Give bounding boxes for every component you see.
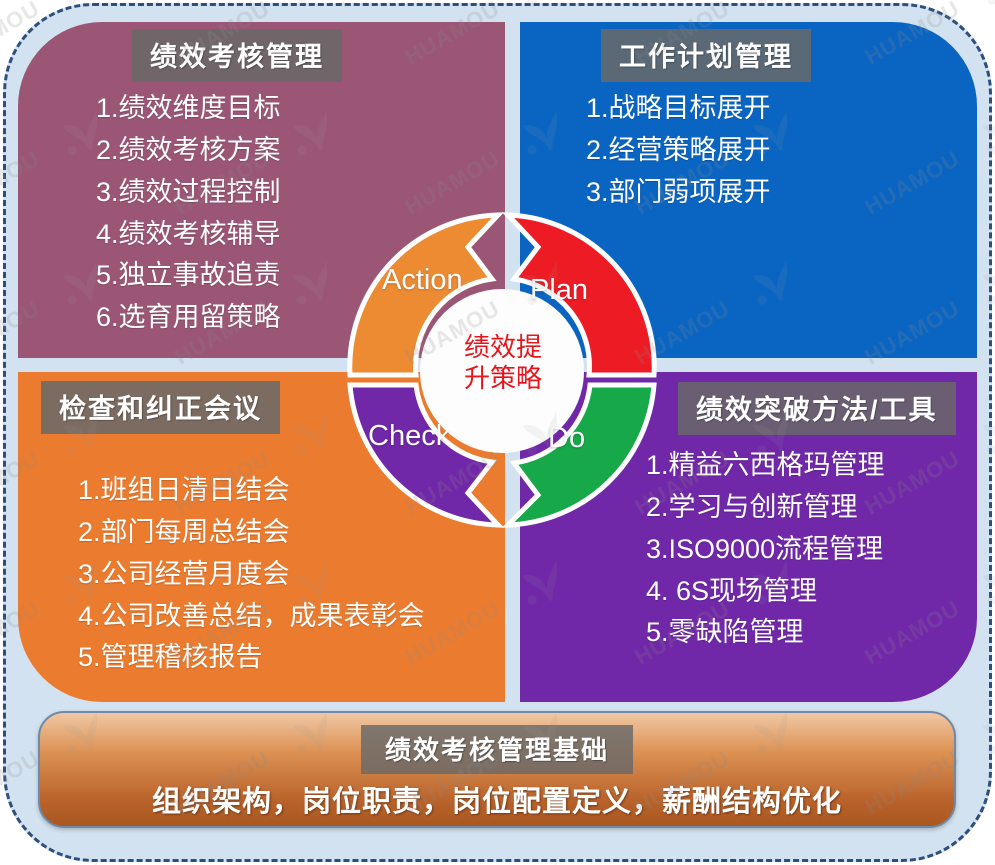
- list-item: 5.管理稽核报告: [78, 637, 425, 679]
- list-item: 3.ISO9000流程管理: [646, 529, 885, 571]
- foundation-banner[interactable]: 绩效考核管理基础 组织架构，岗位职责，岗位配置定义，薪酬结构优化: [38, 711, 956, 828]
- list-item: 4. 6S现场管理: [646, 571, 885, 613]
- quadrant-title-performance-appraisal: 绩效考核管理: [132, 29, 342, 82]
- list-item: 2.经营策略展开: [586, 130, 771, 172]
- list-item: 3.部门弱项展开: [586, 172, 771, 214]
- list-item: 3.绩效过程控制: [96, 172, 281, 214]
- list-item: 2.学习与创新管理: [646, 487, 885, 529]
- list-item: 4.公司改善总结，成果表彰会: [78, 596, 425, 638]
- wheel-center-line-2: 升策略: [438, 363, 568, 394]
- quadrant-title-check-correct-meeting: 检查和纠正会议: [41, 381, 280, 434]
- list-item: 1.战略目标展开: [586, 88, 771, 130]
- list-item: 4.绩效考核辅导: [96, 214, 281, 256]
- list-item: 1.绩效维度目标: [96, 88, 281, 130]
- list-work-plan: 1.战略目标展开2.经营策略展开3.部门弱项展开: [586, 88, 771, 214]
- foundation-banner-title: 绩效考核管理基础: [361, 725, 633, 774]
- list-performance-appraisal: 1.绩效维度目标2.绩效考核方案3.绩效过程控制4.绩效考核辅导5.独立事故追责…: [96, 88, 281, 339]
- list-item: 5.独立事故追责: [96, 255, 281, 297]
- watermark-leaf-icon: [974, 854, 995, 865]
- quadrant-title-breakthrough-methods: 绩效突破方法/工具: [678, 382, 956, 435]
- diagram-canvas: 绩效考核管理 工作计划管理 检查和纠正会议 绩效突破方法/工具 1.绩效维度目标…: [0, 0, 995, 865]
- list-item: 1.精益六西格玛管理: [646, 445, 885, 487]
- list-item: 6.选育用留策略: [96, 297, 281, 339]
- list-item: 3.公司经营月度会: [78, 554, 425, 596]
- list-item: 5.零缺陷管理: [646, 612, 885, 654]
- foundation-banner-subtitle: 组织架构，岗位职责，岗位配置定义，薪酬结构优化: [40, 778, 954, 820]
- list-item: 2.绩效考核方案: [96, 130, 281, 172]
- wheel-center-line-1: 绩效提: [438, 332, 568, 363]
- list-breakthrough-methods: 1.精益六西格玛管理2.学习与创新管理3.ISO9000流程管理4. 6S现场管…: [646, 445, 885, 654]
- wheel-center-label: 绩效提 升策略: [438, 332, 568, 394]
- watermark-leaf-icon: [974, 0, 995, 12]
- pdca-wheel[interactable]: Action Plan Check Do 绩效提 升策略: [330, 212, 675, 522]
- quadrant-title-work-plan: 工作计划管理: [601, 29, 811, 82]
